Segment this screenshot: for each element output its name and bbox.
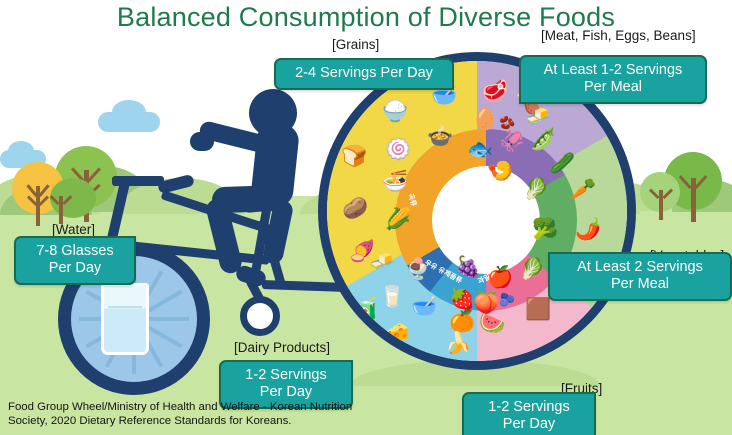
- food-icon-rice-cake: 🍥: [385, 139, 411, 160]
- food-icon-cheese-slices: 🧀: [383, 323, 409, 344]
- food-icon-blueberry: 🫐: [499, 293, 515, 306]
- food-icon-apple: 🍎: [487, 267, 513, 288]
- food-icon-rice-bowl: 🍚: [382, 101, 408, 122]
- food-icon-beef: 🥩: [482, 81, 508, 102]
- food-icon-beans: 🫘: [499, 116, 515, 129]
- wheel-face: 고기·생선 달걀·콩류 채소류 과일류 우유 유제품류 물 곡류 🍚 🥣 🍲 🍥…: [327, 61, 627, 361]
- food-icon-seaweed: 🟫: [525, 299, 551, 320]
- food-icon-egg: 🥚: [472, 109, 498, 130]
- food-icon-corn: 🌽: [385, 209, 411, 230]
- food-icon-strawberry: 🍓: [449, 289, 475, 310]
- food-icon-broccoli: 🥦: [532, 219, 558, 240]
- food-icon-grapes: 🍇: [455, 257, 481, 278]
- food-icon-peach: 🍑: [473, 293, 499, 314]
- food-icon-watermelon: 🍉: [479, 313, 505, 334]
- callout-vegetables[interactable]: At Least 2 Servings Per Meal: [548, 252, 732, 301]
- food-icon-butter-knife: 🧈: [369, 251, 395, 272]
- food-icon-milk-carton: 🥛: [379, 286, 405, 307]
- tree-trunk-icon: [659, 190, 663, 220]
- group-label-meat: [Meat, Fish, Eggs, Beans]: [541, 28, 696, 43]
- group-label-grains: [Grains]: [332, 37, 379, 52]
- food-icon-yogurt-cup: 🥣: [411, 296, 437, 317]
- food-icon-cucumber: 🥒: [549, 153, 575, 174]
- group-label-dairy: [Dairy Products]: [234, 340, 330, 355]
- callout-meat[interactable]: At Least 1-2 Servings Per Meal: [519, 55, 707, 104]
- food-icon-bread-toast: 🍞: [341, 146, 367, 167]
- callout-fruits[interactable]: 1-2 Servings Per Day: [462, 392, 596, 435]
- tree-crown-icon: [50, 178, 96, 218]
- food-icon-yogurt-drink: 🧃: [355, 299, 381, 320]
- food-icon-shrimp: 🍤: [487, 161, 513, 182]
- bike-handlebar-stem: [112, 176, 164, 186]
- food-icon-fish: 🐟: [467, 139, 493, 160]
- cloud-icon: [112, 100, 146, 124]
- food-icon-napa-cabbage: 🥬: [519, 259, 545, 280]
- food-icon-carrot: 🥕: [570, 179, 596, 200]
- food-icon-tofu: 🧈: [525, 106, 551, 127]
- bike-crankset: [240, 296, 280, 336]
- cyclist-hand: [190, 132, 214, 151]
- food-icon-soybean-pod: 🫛: [530, 129, 556, 150]
- infographic-canvas: 고기·생선 달걀·콩류 채소류 과일류 우유 유제품류 물 곡류 🍚 🥣 🍲 🍥…: [0, 0, 732, 435]
- source-attribution: Food Group Wheel/Ministry of Health and …: [8, 400, 408, 428]
- food-icon-potato: 🥔: [342, 198, 368, 219]
- cloud-icon: [8, 141, 34, 161]
- group-label-water: [Water]: [52, 222, 95, 237]
- food-icon-banana: 🍌: [445, 333, 471, 354]
- food-icon-porridge: 🍲: [427, 126, 453, 147]
- callout-water[interactable]: 7-8 Glasses Per Day: [14, 236, 136, 285]
- water-glass-icon: [101, 283, 149, 355]
- food-icon-chili-pepper: 🌶️: [575, 219, 601, 240]
- food-icon-orange: 🍊: [449, 311, 475, 332]
- food-icon-squid: 🦑: [499, 131, 525, 152]
- food-icon-noodles: 🍜: [382, 171, 408, 192]
- tree-trunk-icon: [59, 196, 63, 224]
- food-icon-ice-cream: 🍨: [405, 259, 431, 280]
- food-icon-zucchini: 🥬: [523, 179, 549, 200]
- callout-grains[interactable]: 2-4 Servings Per Day: [274, 58, 454, 90]
